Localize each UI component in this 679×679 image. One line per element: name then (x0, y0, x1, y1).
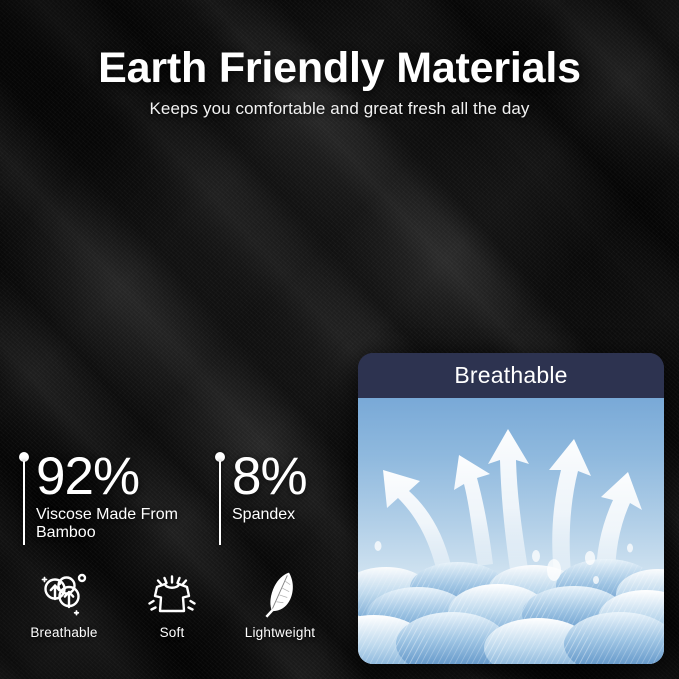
feather-icon (260, 565, 300, 623)
feature-label: Soft (160, 625, 185, 640)
composition-stats: 92% Viscose Made From Bamboo 8% Spandex (18, 452, 307, 542)
feature-item-breathable: Breathable (10, 565, 118, 640)
airflow-arrows (383, 429, 642, 578)
stat-label: Viscose Made From Bamboo (36, 506, 186, 542)
panel-header: Breathable (358, 353, 664, 398)
feature-label: Breathable (30, 625, 97, 640)
feature-label: Lightweight (245, 625, 316, 640)
panel-title: Breathable (454, 362, 567, 389)
tshirt-icon (148, 565, 196, 623)
airflow-illustration (358, 398, 664, 664)
airflow-circles-icon (38, 565, 90, 623)
product-feature-image: Earth Friendly Materials Keeps you comfo… (0, 0, 679, 679)
stat-percent: 92% (36, 452, 186, 503)
feature-item-soft: Soft (118, 565, 226, 640)
breathable-panel: Breathable (358, 353, 664, 664)
page-title: Earth Friendly Materials (0, 44, 679, 93)
stat-label: Spandex (232, 506, 307, 524)
stat-item: 8% Spandex (214, 452, 307, 524)
page-subtitle: Keeps you comfortable and great fresh al… (0, 99, 679, 119)
stat-percent: 8% (232, 452, 307, 503)
feature-list: Breathable Soft (10, 565, 334, 640)
feature-item-lightweight: Lightweight (226, 565, 334, 640)
stat-item: 92% Viscose Made From Bamboo (18, 452, 186, 542)
